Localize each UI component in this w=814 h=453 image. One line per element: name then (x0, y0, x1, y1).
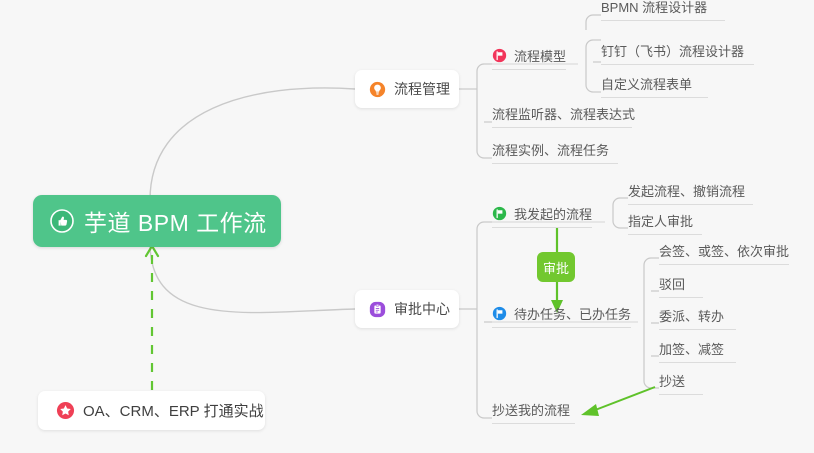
flag-icon (492, 206, 507, 221)
label-process-instance-task: 流程实例、流程任务 (492, 140, 609, 159)
flag-icon (492, 306, 507, 321)
node-process-instance-task[interactable]: 流程实例、流程任务 (492, 140, 618, 164)
root-node[interactable]: 芋道 BPM 工作流 (33, 195, 281, 247)
label-add-remove-sign: 加签、减签 (659, 339, 724, 358)
label-cc: 抄送 (659, 371, 685, 390)
label-countersign-orsign-sequential: 会签、或签、依次审批 (659, 241, 789, 260)
node-cc[interactable]: 抄送 (659, 371, 703, 395)
arrow-cc-to-ccme-head (581, 404, 599, 416)
node-todo-done-tasks[interactable]: 待办任务、已办任务 (492, 304, 631, 328)
root-label: 芋道 BPM 工作流 (84, 204, 267, 238)
branch-node-process-management[interactable]: 流程管理 (355, 70, 459, 108)
label-assignee-approval: 指定人审批 (628, 211, 693, 230)
mindmap-canvas: 芋道 BPM 工作流 流程管理 审批中心 (0, 0, 814, 453)
branch-node-approval-center[interactable]: 审批中心 (355, 290, 459, 328)
label-process-listener-expression: 流程监听器、流程表达式 (492, 104, 635, 123)
label-cc-to-me-processes: 抄送我的流程 (492, 400, 570, 419)
label-delegate-transfer: 委派、转办 (659, 306, 724, 325)
arrow-cc-to-ccme-shaft (590, 387, 655, 412)
connector-pmodel-bracket (586, 40, 593, 92)
connector-mi-bracket (613, 198, 620, 228)
connector-root-to-process-management (150, 88, 355, 200)
node-process-listener-expression[interactable]: 流程监听器、流程表达式 (492, 104, 632, 128)
label-my-initiated-processes: 我发起的流程 (514, 204, 592, 223)
branch-label-approval-center: 审批中心 (394, 299, 450, 319)
node-assignee-approval[interactable]: 指定人审批 (628, 211, 702, 235)
node-add-remove-sign[interactable]: 加签、减签 (659, 339, 736, 363)
node-delegate-transfer[interactable]: 委派、转办 (659, 306, 736, 330)
clipboard-icon (369, 301, 386, 318)
star-icon (56, 401, 75, 420)
label-custom-process-form: 自定义流程表单 (601, 74, 692, 93)
label-todo-done-tasks: 待办任务、已办任务 (514, 304, 631, 323)
node-cc-to-me-processes[interactable]: 抄送我的流程 (492, 400, 575, 424)
label-start-cancel-process: 发起流程、撤销流程 (628, 181, 745, 200)
integration-practice-label: OA、CRM、ERP 打通实战 (83, 400, 264, 421)
dashed-integration-to-root-head (146, 246, 158, 256)
approval-badge-label: 审批 (543, 258, 569, 277)
label-process-model: 流程模型 (514, 46, 566, 65)
connector-pmodel-top (586, 15, 601, 30)
flag-icon (492, 48, 507, 63)
node-start-cancel-process[interactable]: 发起流程、撤销流程 (628, 181, 753, 205)
thumbs-up-icon (50, 209, 74, 233)
label-dingtalk-feishu-designer: 钉钉（飞书）流程设计器 (601, 41, 744, 60)
node-dingtalk-feishu-designer[interactable]: 钉钉（飞书）流程设计器 (601, 41, 754, 65)
label-bpmn-designer: BPMN 流程设计器 (601, 0, 707, 16)
lightbulb-icon (369, 81, 386, 98)
connector-pm-bracket (477, 64, 484, 158)
connector-td-bracket (644, 258, 651, 388)
approval-badge[interactable]: 审批 (537, 252, 575, 282)
node-my-initiated-processes[interactable]: 我发起的流程 (492, 204, 592, 228)
integration-practice-node[interactable]: OA、CRM、ERP 打通实战 (38, 391, 265, 430)
node-bpmn-designer[interactable]: BPMN 流程设计器 (601, 0, 725, 21)
branch-label-process-management: 流程管理 (394, 79, 450, 99)
node-process-model[interactable]: 流程模型 (492, 46, 566, 70)
connector-root-to-approval-center (150, 243, 355, 313)
node-custom-process-form[interactable]: 自定义流程表单 (601, 74, 708, 98)
label-reject: 驳回 (659, 274, 685, 293)
node-countersign-orsign-sequential[interactable]: 会签、或签、依次审批 (659, 241, 789, 265)
node-reject[interactable]: 驳回 (659, 274, 703, 298)
connector-ac-bracket (477, 222, 484, 418)
